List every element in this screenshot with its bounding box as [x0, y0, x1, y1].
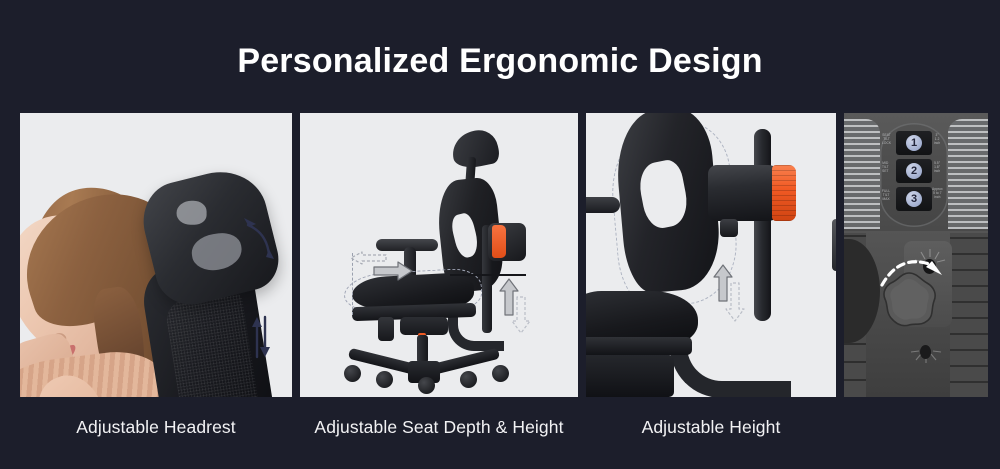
- caption-lumbar-control: [844, 402, 988, 452]
- seat-depth-left-dashed-arrow-icon: [348, 251, 388, 265]
- caption-row: Adjustable Headrest Adjustable Seat Dept…: [20, 402, 980, 452]
- headrest-pad-lower: [190, 230, 245, 273]
- adjust-lever: [378, 317, 394, 341]
- position-slot-1[interactable]: 1: [896, 131, 932, 155]
- label-text-left-1: SEAT TILT LOCK: [882, 133, 891, 145]
- page-title: Personalized Ergonomic Design: [0, 41, 1000, 81]
- vertical-support-bar: [754, 129, 771, 321]
- tilt-rotation-arrow-icon: [241, 213, 281, 267]
- gas-cylinder: [417, 335, 428, 363]
- panel-seat-depth-height-image: [300, 113, 578, 397]
- caster-wheel: [344, 365, 361, 382]
- label-text-right-2: 5.5° 1.8° inch: [934, 161, 940, 173]
- label-text-right-3: Approx 5 to 7 inch: [932, 187, 943, 199]
- orange-adjustment-knob: [772, 165, 796, 221]
- caster-wheel: [376, 371, 393, 388]
- armrest-pad: [586, 197, 620, 213]
- orange-knob: [492, 225, 506, 258]
- knob-ribs: [772, 165, 796, 221]
- ergonomic-design-banner: Personalized Ergonomic Design: [0, 0, 1000, 469]
- height-down-dashed-arrow-icon: [724, 281, 746, 323]
- adjustment-drum: [708, 165, 780, 221]
- label-text-left-2: MID TILT SET: [882, 161, 889, 173]
- backrest-cutout: [449, 212, 481, 260]
- panel-row: SEAT TILT LOCK 3° 1.2 inch MID TILT SET …: [20, 113, 980, 397]
- caster-wheel: [418, 377, 435, 394]
- caption-seat-depth-height: Adjustable Seat Depth & Height: [300, 402, 578, 452]
- caption-headrest: Adjustable Headrest: [20, 402, 292, 452]
- height-reference-line: [450, 274, 526, 276]
- position-badge-2: 2: [906, 163, 922, 179]
- panel-headrest-image: [20, 113, 292, 397]
- label-text-right-1: 3° 1.2 inch: [934, 133, 940, 145]
- panel-armrest-height-image: [586, 113, 836, 397]
- drum-nub: [720, 219, 738, 237]
- height-down-dashed-arrow-icon: [510, 295, 532, 335]
- backrest-mesh: [164, 291, 259, 397]
- position-slot-2[interactable]: 2: [896, 159, 932, 183]
- office-chair-side-view: [300, 113, 578, 397]
- position-badge-3: 3: [906, 191, 922, 207]
- position-badge-1: 1: [906, 135, 922, 151]
- caster-wheel: [460, 371, 477, 388]
- label-text-left-3: FULL TILT MAX: [882, 189, 890, 201]
- mesh-texture-right: [948, 119, 988, 229]
- up-down-arrow-icon: [248, 315, 274, 359]
- position-slot-3[interactable]: 3: [896, 187, 932, 211]
- caster-wheel: [492, 365, 509, 382]
- knob-pivot-lower: [920, 345, 931, 359]
- caption-armrest-height: Adjustable Height: [586, 402, 836, 452]
- seat-base: [586, 337, 692, 355]
- panel-lumbar-control-image: SEAT TILT LOCK 3° 1.2 inch MID TILT SET …: [844, 113, 988, 397]
- headrest-pad-upper: [177, 201, 207, 225]
- rotation-arrow-icon: [876, 249, 956, 295]
- drum-ring: [832, 219, 836, 271]
- mesh-texture-left: [844, 119, 880, 229]
- backrest-frame-cutout: [636, 158, 692, 231]
- under-seat-mechanism: [586, 355, 674, 397]
